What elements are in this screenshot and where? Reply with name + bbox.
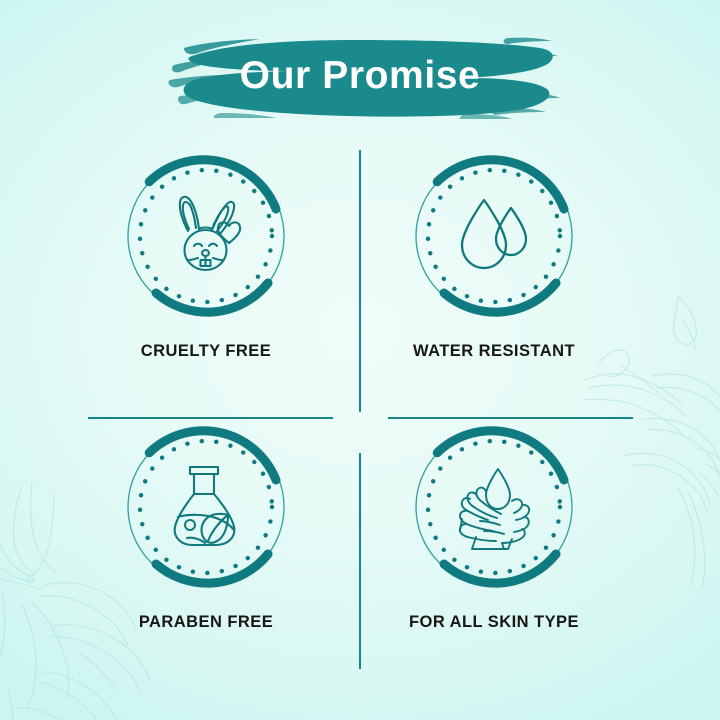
- feature-label: FOR ALL SKIN TYPE: [409, 613, 579, 632]
- page-title: Our Promise: [240, 56, 481, 99]
- feature-for-all-skin-type[interactable]: FOR ALL SKIN TYPE: [336, 417, 652, 667]
- feature-paraben-free[interactable]: PARABEN FREE: [48, 417, 364, 667]
- flask-leaf-icon: [160, 461, 252, 553]
- badge-ring: [404, 146, 584, 326]
- badge-ring: [116, 417, 296, 597]
- promise-infographic: Our Promise: [0, 0, 720, 720]
- badge-ring: [404, 417, 584, 597]
- header: Our Promise: [0, 34, 720, 120]
- hands-droplet-icon: [446, 459, 542, 555]
- feature-water-resistant[interactable]: WATER RESISTANT: [336, 146, 652, 396]
- feature-label: WATER RESISTANT: [413, 342, 575, 361]
- feature-cruelty-free[interactable]: CRUELTY FREE: [48, 146, 364, 396]
- rabbit-heart-icon: [158, 188, 254, 284]
- feature-label: CRUELTY FREE: [141, 342, 271, 361]
- feature-grid: CRUELTY FREE WATER RESISTANT: [0, 132, 720, 692]
- feature-label: PARABEN FREE: [139, 613, 273, 632]
- badge-ring: [116, 146, 296, 326]
- water-droplets-icon: [448, 190, 540, 282]
